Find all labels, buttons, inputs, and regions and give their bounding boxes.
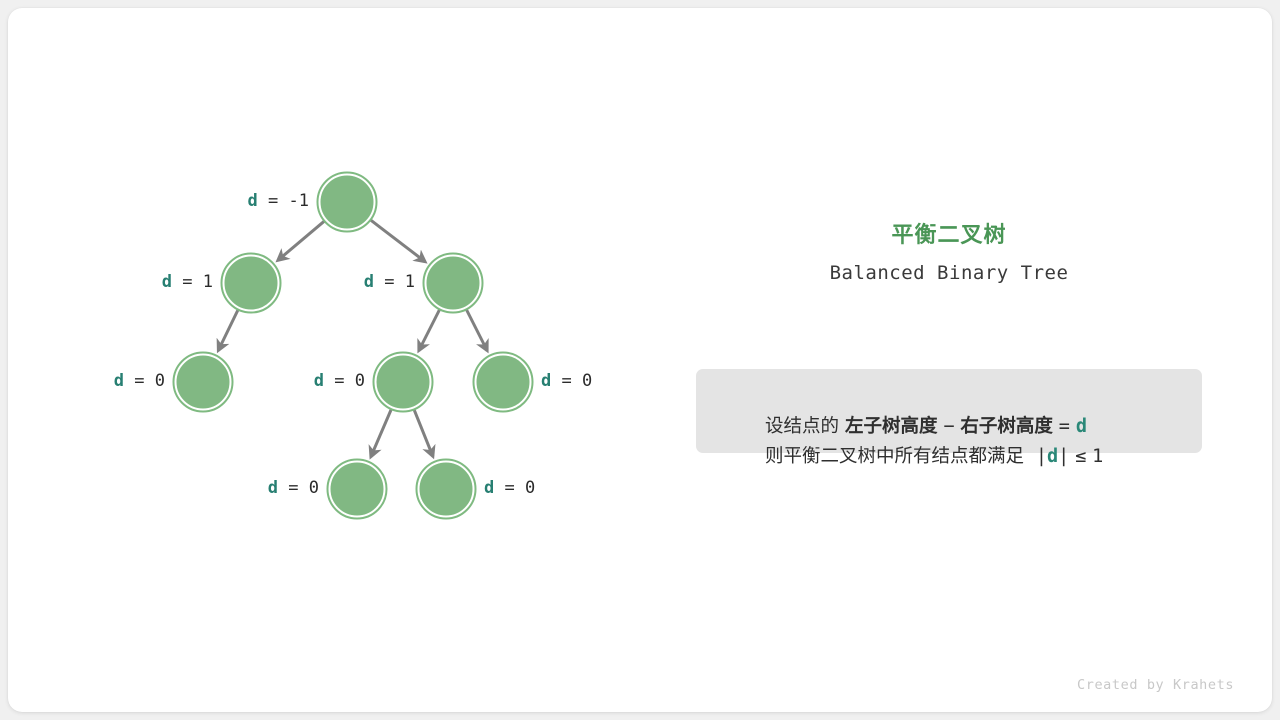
tree-node — [318, 173, 377, 232]
balance-operator: = — [494, 478, 525, 498]
balance-value: 0 — [155, 371, 165, 391]
diagram-card: d = -1d = 1d = 1d = 0d = 0d = 0d = 0d = … — [8, 8, 1272, 712]
abs-bar-left: | — [1036, 446, 1047, 467]
definition-variable-d: d — [1076, 416, 1087, 437]
node-circle — [420, 463, 472, 515]
balance-variable: d — [314, 371, 324, 391]
balance-value: 1 — [203, 272, 213, 292]
diagram-stage: d = -1d = 1d = 1d = 0d = 0d = 0d = 0d = … — [8, 8, 1272, 712]
tree-node — [222, 254, 281, 313]
node-circle — [321, 176, 373, 228]
node-balance-factor-label: d = 0 — [314, 373, 365, 390]
balance-value: 0 — [525, 478, 535, 498]
node-circle — [427, 257, 479, 309]
tree-node — [374, 353, 433, 412]
tree-node — [328, 460, 387, 519]
tree-nodes — [174, 173, 533, 519]
definition-box: 设结点的 左子树高度 − 右子树高度 = d 则平衡二叉树中所有结点都满足 |d… — [696, 369, 1202, 453]
node-circle — [177, 356, 229, 408]
panel: 平衡二叉树 Balanced Binary Tree — [696, 222, 1202, 284]
definition-equals-sign: = — [1059, 416, 1070, 437]
balance-variable: d — [162, 272, 172, 292]
balance-operator: = — [374, 272, 405, 292]
node-balance-factor-label: d = 0 — [484, 480, 535, 497]
node-balance-factor-label: d = 0 — [541, 373, 592, 390]
definition-term-right-subtree-height: 右子树高度 — [960, 416, 1053, 437]
definition-line-1: 设结点的 左子树高度 − 右子树高度 = d — [718, 382, 1180, 412]
tree-edge — [419, 309, 440, 351]
definition-prefix: 设结点的 — [765, 416, 839, 437]
tree-node — [417, 460, 476, 519]
node-balance-factor-label: d = -1 — [248, 193, 309, 210]
balance-value: 0 — [582, 371, 592, 391]
node-balance-factor-label: d = 0 — [268, 480, 319, 497]
constraint-relation: ≤ — [1075, 446, 1086, 467]
balance-variable: d — [248, 191, 258, 211]
tree-edge — [371, 409, 392, 457]
balance-operator: = — [324, 371, 355, 391]
balance-operator: = — [278, 478, 309, 498]
node-circle — [377, 356, 429, 408]
balance-variable: d — [484, 478, 494, 498]
tree-edge — [414, 409, 433, 457]
balance-variable: d — [541, 371, 551, 391]
tree-edge — [370, 220, 425, 262]
balance-value: -1 — [289, 191, 309, 211]
balance-operator: = — [551, 371, 582, 391]
tree-node — [174, 353, 233, 412]
tree-edge — [466, 309, 487, 351]
node-balance-factor-label: d = 1 — [364, 274, 415, 291]
constraint-variable-d: d — [1047, 446, 1058, 467]
tree-edge — [218, 309, 238, 350]
node-balance-factor-label: d = 0 — [114, 373, 165, 390]
node-circle — [225, 257, 277, 309]
page-title: 平衡二叉树 — [696, 222, 1202, 251]
balance-value: 0 — [355, 371, 365, 391]
definition-minus-sign: − — [943, 416, 954, 437]
constraint-prefix: 则平衡二叉树中所有结点都满足 — [765, 446, 1024, 467]
tree-node — [424, 254, 483, 313]
abs-bar-right: | — [1058, 446, 1069, 467]
balance-variable: d — [268, 478, 278, 498]
balance-variable: d — [114, 371, 124, 391]
binary-tree-graphic — [8, 8, 1272, 712]
balance-value: 1 — [405, 272, 415, 292]
balance-operator: = — [258, 191, 289, 211]
constraint-bound: 1 — [1092, 446, 1103, 467]
node-balance-factor-label: d = 1 — [162, 274, 213, 291]
node-circle — [477, 356, 529, 408]
tree-node — [474, 353, 533, 412]
balance-variable: d — [364, 272, 374, 292]
node-circle — [331, 463, 383, 515]
balance-operator: = — [172, 272, 203, 292]
balance-operator: = — [124, 371, 155, 391]
tree-edge — [278, 221, 325, 261]
credit-text: Created by Krahets — [1077, 677, 1234, 693]
balance-value: 0 — [309, 478, 319, 498]
page-subtitle: Balanced Binary Tree — [696, 262, 1202, 285]
definition-term-left-subtree-height: 左子树高度 — [845, 416, 938, 437]
